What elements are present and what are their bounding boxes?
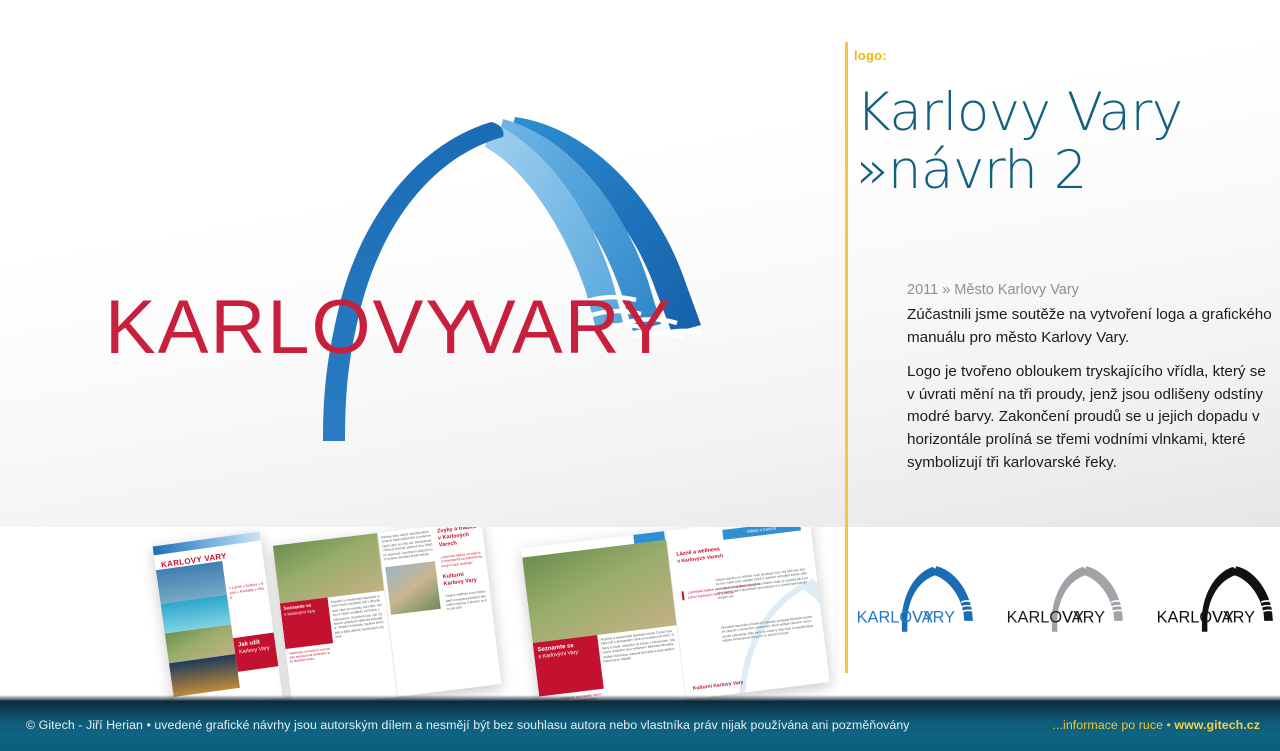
mockup-spread-left: Seznamte se s Karlovými Vary Věděli jste… [273,527,502,707]
description-paragraph-2: Logo je tvořeno obloukem tryskajícího vř… [907,361,1275,474]
description-paragraph-1: Zúčastnili jsme soutěže na vytvoření log… [907,304,1275,349]
footer-website-link[interactable]: www.gitech.cz [1174,718,1260,732]
section-kicker: logo: [854,48,887,63]
page-title: Karlovy Vary »návrh 2 [856,84,1276,200]
mockup-cover: KARLOVY VARY » Lázně » Kultura » Sport »… [153,531,283,707]
info-column: logo: Karlovy Vary »návrh 2 2011 » Město… [845,42,1280,676]
cover-nav: » Lázně » Kultura » Sport » Památky » Ok… [222,555,269,604]
footer-tagline: ...informace po ruce • [1053,718,1175,732]
variant-gray-wordmark-right: VARY [1062,608,1105,626]
footer-bar: © Gitech - Jiří Herian • uvedené grafick… [0,702,1280,751]
project-meta: 2011 » Město Karlovy Vary [907,280,1267,300]
footer-contact[interactable]: ...informace po ruce • www.gitech.cz [1053,718,1260,732]
presentation-slide: KARLOVY VARY logo: Karlovy Vary »návrh 2… [0,0,1280,751]
page-title-line2: »návrh 2 [856,142,1276,200]
mockup-spread-right: Seznamte se s Karlovými Vary Věděli jste… [521,527,830,707]
print-mockups: KARLOVY VARY » Lázně » Kultura » Sport »… [0,527,845,707]
wordmark-left-text: KARLOVY [105,285,478,370]
logo-variant-grayscale: KARLOVY VARY [1005,560,1130,638]
variant-blue-wordmark-right: VARY [912,608,955,626]
logo-variant-black: KARLOVY VARY [1155,560,1280,638]
accent-vertical-rule [845,42,848,673]
variant-black-wordmark-right: VARY [1212,608,1255,626]
project-description: Zúčastnili jsme soutěže na vytvoření log… [907,304,1275,474]
logo-variants-row: KARLOVY VARY KARLOVY VARY [855,554,1280,644]
copyright-text: © Gitech - Jiří Herian • uvedené grafick… [26,718,910,732]
wordmark-right-text: VARY [465,285,673,370]
spread-right-tab: Město v kostce [722,527,801,540]
page-title-line1: Karlovy Vary [856,82,1183,143]
main-logo-artwork: KARLOVY VARY [105,95,745,455]
logo-variant-blue: KARLOVY VARY [855,560,980,638]
